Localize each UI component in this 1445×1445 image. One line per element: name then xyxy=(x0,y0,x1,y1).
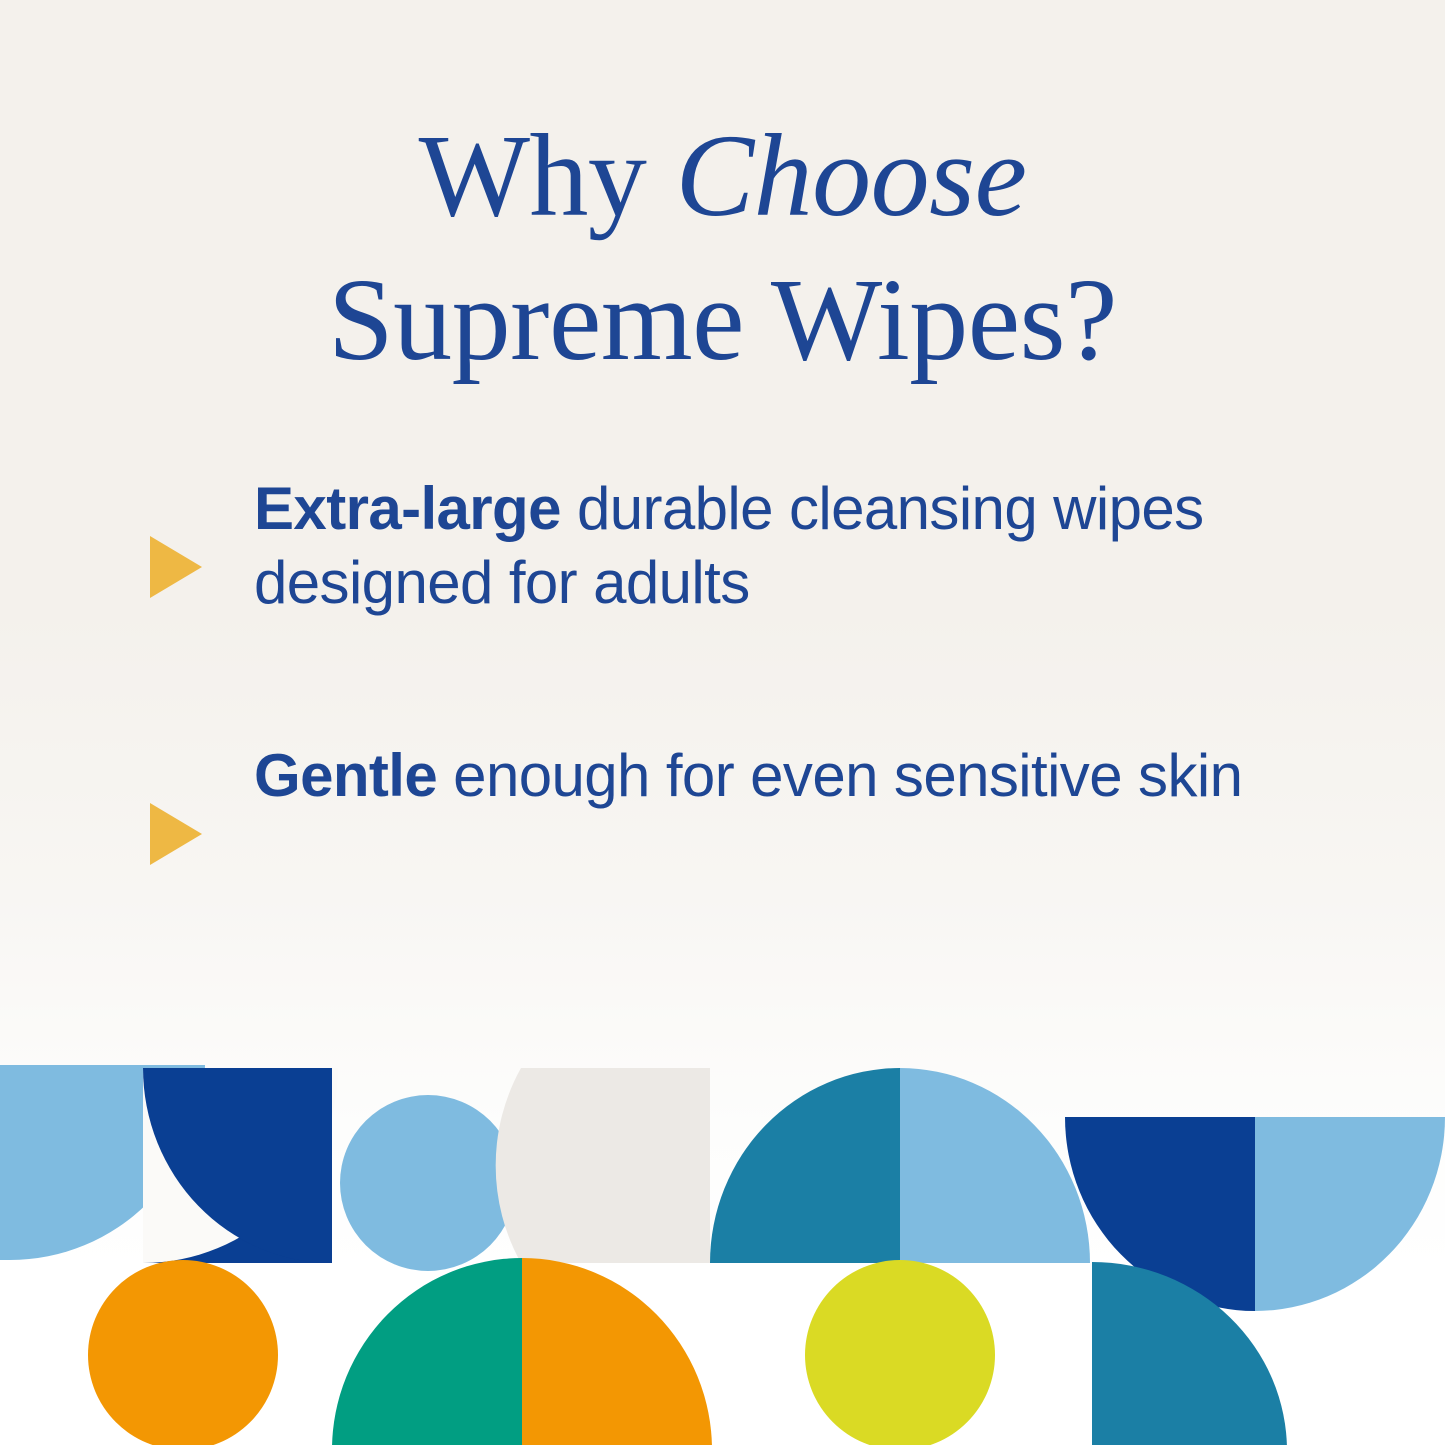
list-item-rest: enough for even sensitive skin xyxy=(437,742,1242,809)
triangle-right-icon xyxy=(148,534,208,600)
list-item-label: Gentle enough for even sensitive skin xyxy=(208,739,1348,813)
feature-list: Extra-large durable cleansing wipes desi… xyxy=(148,472,1348,985)
geometric-pattern-decoration xyxy=(0,1055,1445,1445)
shape-circle-lightblue-1 xyxy=(340,1095,516,1271)
list-item: Gentle enough for even sensitive skin xyxy=(148,739,1348,867)
shape-half-dome-orange-1 xyxy=(522,1258,712,1445)
list-item-label: Extra-large durable cleansing wipes desi… xyxy=(208,472,1348,621)
page-title-line-1: Why Choose xyxy=(0,104,1445,248)
page-title-line-1-plain: Why xyxy=(419,110,676,241)
list-item-emphasis: Extra-large xyxy=(254,475,561,542)
shape-half-dome-green-1 xyxy=(332,1258,522,1445)
page-title-line-2: Supreme Wipes? xyxy=(0,248,1445,392)
shape-circle-lime-1 xyxy=(805,1260,995,1445)
shape-circle-orange-1 xyxy=(88,1260,278,1445)
page-title: Why Choose Supreme Wipes? xyxy=(0,104,1445,392)
list-item: Extra-large durable cleansing wipes desi… xyxy=(148,472,1348,621)
list-item-emphasis: Gentle xyxy=(254,742,437,809)
shape-half-dome-lightblue-1 xyxy=(900,1068,1090,1263)
page-title-line-1-italic: Choose xyxy=(675,110,1026,241)
shape-half-dome-teal-1 xyxy=(710,1068,900,1263)
shape-quarter-circle-beige-1 xyxy=(496,1068,710,1263)
promo-card: Why Choose Supreme Wipes? Extra-large du… xyxy=(0,0,1445,1445)
triangle-right-icon xyxy=(148,801,208,867)
shape-rect-lightblue-fill-1 xyxy=(0,1065,10,1260)
shape-half-bowl-lightblue-1 xyxy=(1255,1117,1445,1311)
